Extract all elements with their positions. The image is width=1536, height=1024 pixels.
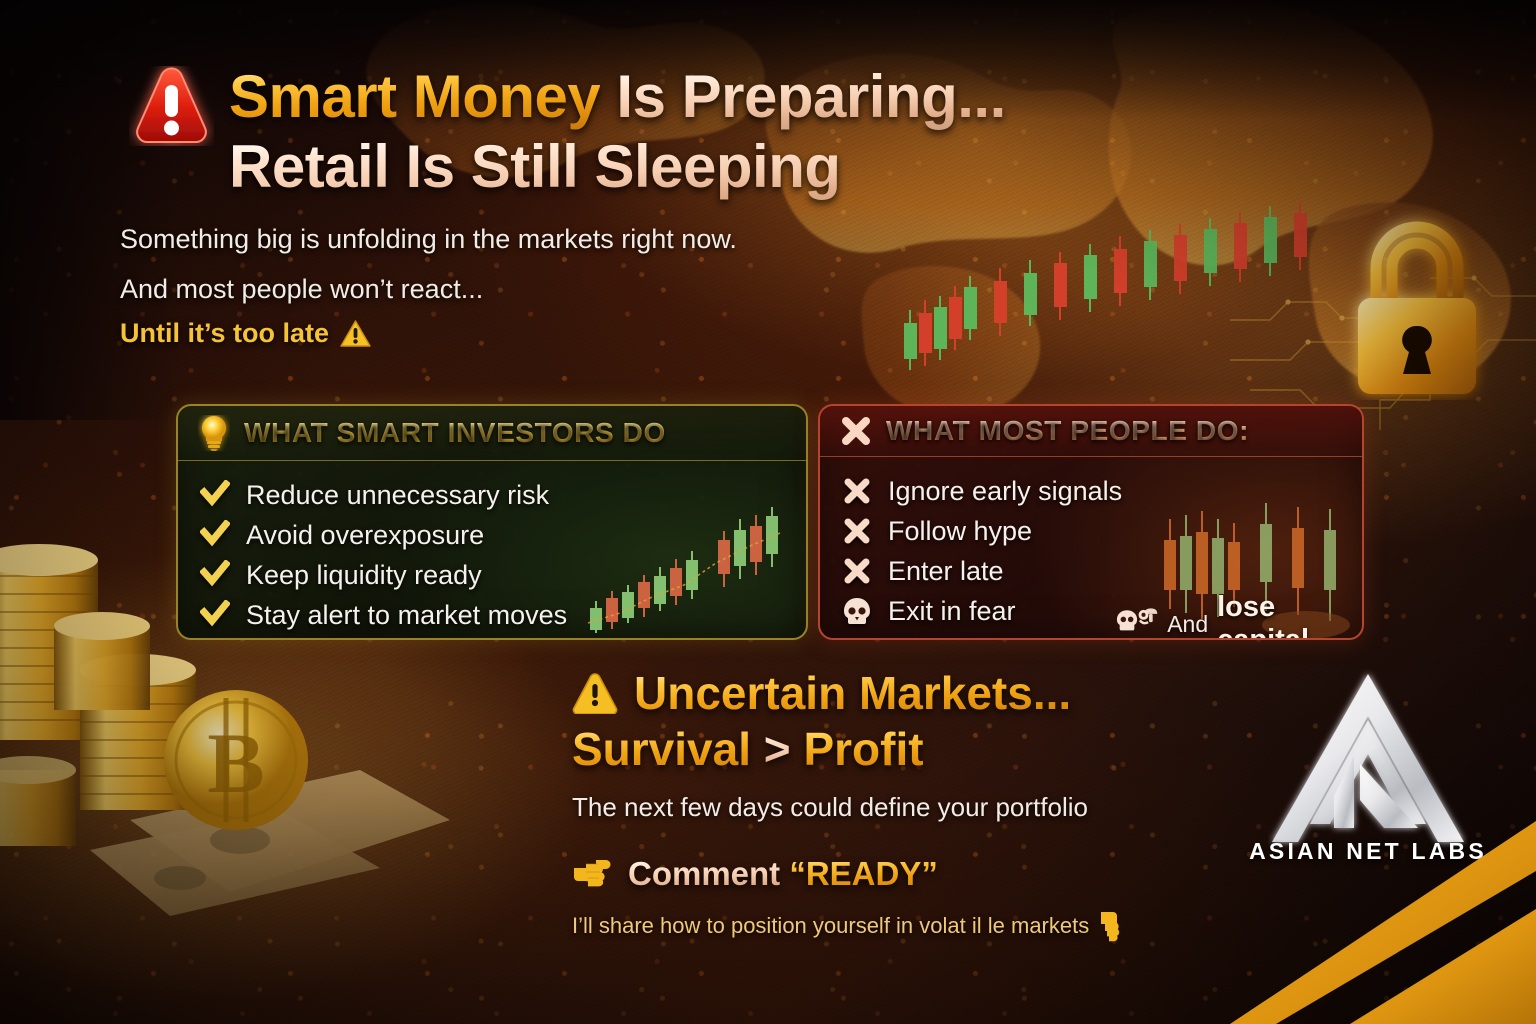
most-people-panel-body: Ignore early signals Follow hype Enter l… — [820, 457, 1362, 640]
list-item: Exit in fear And lose — [842, 591, 1362, 631]
cta-text-comment: Comment — [628, 855, 789, 892]
list-item: Keep liquidity ready — [200, 555, 806, 595]
check-icon — [200, 520, 230, 550]
list-item-label: Enter late — [888, 556, 1004, 587]
cta-row[interactable]: Comment “READY” — [572, 855, 938, 893]
list-item-label: Ignore early signals — [888, 476, 1122, 507]
padlock-icon — [1330, 210, 1505, 400]
poster-canvas: B Smart Money Is Preparing... Retail I — [0, 0, 1536, 1024]
list-item: Stay alert to market moves — [200, 595, 806, 635]
left-shade — [0, 0, 180, 420]
warning-triangle-icon — [340, 319, 371, 348]
most-people-panel-title: WHAT MOST PEOPLE DO: — [886, 415, 1249, 447]
subhead-line-3: Until it’s too late — [120, 318, 1040, 349]
x-cross-icon — [842, 476, 872, 506]
most-people-panel-header: WHAT MOST PEOPLE DO: — [820, 406, 1362, 457]
headline-cream-part: Is Preparing... — [600, 63, 1005, 130]
list-item: Follow hype — [842, 511, 1362, 551]
skull-icon — [1116, 607, 1158, 640]
bottom-heading-2-profit: Profit — [803, 723, 923, 775]
subhead-line-2: And most people won’t react... — [120, 274, 1040, 305]
list-item-label: Keep liquidity ready — [246, 560, 482, 591]
logo-text: ASIAN NET LABS — [1248, 838, 1488, 865]
list-item: Enter late — [842, 551, 1362, 591]
smart-investors-panel-title: WHAT SMART INVESTORS DO — [244, 417, 666, 449]
list-item-label: Reduce unnecessary risk — [246, 480, 549, 511]
smart-investors-panel: WHAT SMART INVESTORS DO — [176, 404, 808, 640]
skull-icon — [842, 596, 872, 626]
list-item-label: Exit in fear — [888, 596, 1016, 627]
bottom-heading-2-gt: > — [751, 723, 803, 775]
x-cross-icon — [840, 415, 872, 447]
footer-row: I’ll share how to position yourself in v… — [572, 910, 1127, 942]
lose-and-text: And — [1167, 611, 1208, 638]
bottom-heading-1: Uncertain Markets... — [634, 668, 1071, 719]
list-item-label: Stay alert to market moves — [246, 600, 567, 631]
red-alert-triangle-icon — [129, 66, 214, 146]
check-icon — [200, 480, 230, 510]
check-icon — [200, 600, 230, 630]
subhead-line-3-text: Until it’s too late — [120, 318, 329, 349]
lose-capital-text: lose capital — [1217, 591, 1362, 640]
asian-net-labs-logo-mark — [1268, 668, 1468, 853]
x-cross-icon — [842, 516, 872, 546]
list-item-label: Avoid overexposure — [246, 520, 484, 551]
warning-triangle-icon — [572, 672, 618, 714]
lose-capital-group: And lose capital — [1116, 591, 1362, 640]
headline-gold-part: Smart Money — [229, 63, 600, 130]
smart-investors-panel-body: Reduce unnecessary risk Avoid overexposu… — [178, 461, 806, 640]
lightbulb-icon — [198, 415, 230, 451]
cta-text: Comment “READY” — [628, 855, 938, 893]
headline-line-2: Retail Is Still Sleeping — [229, 132, 1129, 202]
most-people-panel: WHAT MOST PEOPLE DO: — [818, 404, 1364, 640]
cta-text-ready: “READY” — [789, 855, 938, 892]
list-item: Reduce unnecessary risk — [200, 475, 806, 515]
subhead-line-1: Something big is unfolding in the market… — [120, 224, 1040, 255]
list-item-label: Follow hype — [888, 516, 1032, 547]
x-cross-icon — [842, 556, 872, 586]
footer-text: I’ll share how to position yourself in v… — [572, 913, 1089, 939]
headline: Smart Money Is Preparing... Retail Is St… — [229, 62, 1129, 201]
pointing-right-hand-icon — [572, 856, 614, 892]
svg-text:B: B — [207, 715, 264, 811]
list-item: Ignore early signals — [842, 471, 1362, 511]
bottom-heading-2-survival: Survival — [572, 723, 751, 775]
smart-investors-panel-header: WHAT SMART INVESTORS DO — [178, 406, 806, 461]
list-item: Avoid overexposure — [200, 515, 806, 555]
headline-line-1: Smart Money Is Preparing... — [229, 62, 1129, 132]
bottom-heading-2-row: Survival > Profit — [572, 724, 924, 775]
pointing-down-hand-icon — [1097, 910, 1127, 942]
bottom-subtext: The next few days could define your port… — [572, 792, 1088, 823]
bottom-heading-1-row: Uncertain Markets... — [572, 668, 1071, 719]
check-icon — [200, 560, 230, 590]
bottom-heading-2: Survival > Profit — [572, 724, 924, 775]
